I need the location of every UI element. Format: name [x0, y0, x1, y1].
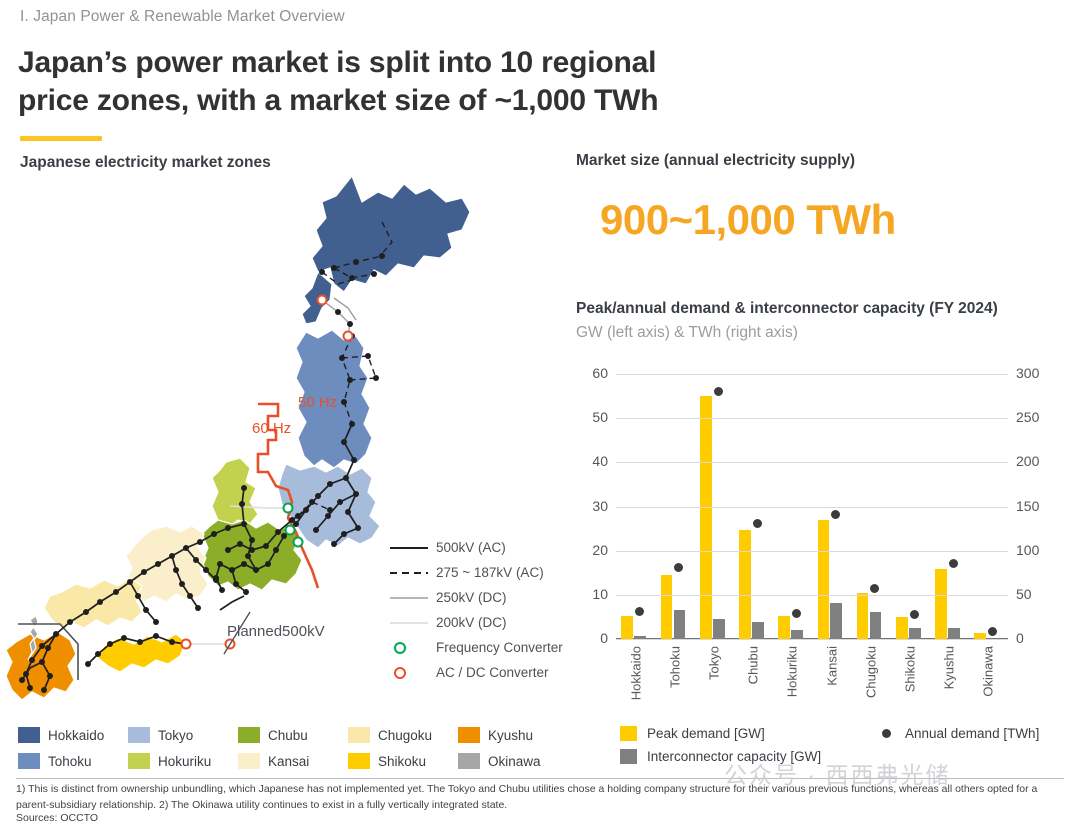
zone-legend-label: Tokyo	[158, 728, 193, 743]
x-axis-label: Kyushu	[930, 644, 969, 724]
bar-interconnector-capacity[interactable]	[713, 619, 725, 639]
zone-legend-label: Tohoku	[48, 754, 92, 769]
legend-label-frequency-converter: Frequency Converter	[436, 640, 563, 655]
chart-legend-label: Interconnector capacity [GW]	[647, 749, 821, 764]
zone-legend-label: Kansai	[268, 754, 309, 769]
zone-legend-item-hokkaido: Hokkaido	[18, 722, 128, 748]
dot-annual-demand[interactable]	[714, 387, 723, 396]
x-axis-label: Shikoku	[890, 644, 929, 724]
bar-peak-demand[interactable]	[621, 616, 633, 639]
color-swatch	[458, 753, 480, 769]
zone-legend-label: Hokuriku	[158, 754, 211, 769]
color-swatch	[348, 727, 370, 743]
bar-interconnector-capacity[interactable]	[909, 628, 921, 639]
y-tick-left: 30	[574, 498, 608, 514]
color-swatch	[238, 727, 260, 743]
black-dot-icon	[878, 729, 895, 738]
grey-line-icon	[390, 593, 436, 603]
dot-annual-demand[interactable]	[870, 584, 879, 593]
bar-interconnector-capacity[interactable]	[674, 610, 686, 639]
planned-500kv-callout: Planned500kV	[227, 623, 325, 640]
dot-annual-demand[interactable]	[674, 563, 683, 572]
color-swatch	[238, 753, 260, 769]
gridline	[616, 374, 1008, 375]
bar-peak-demand[interactable]	[739, 530, 751, 639]
legend-row-275kv-ac: 275 ~ 187kV (AC)	[390, 560, 563, 585]
x-axis-label: Chugoku	[851, 644, 890, 724]
light-grey-line-icon	[390, 618, 436, 628]
gridline	[616, 551, 1008, 552]
zone-legend-item-chubu: Chubu	[238, 722, 348, 748]
zone-legend-item-kansai: Kansai	[238, 748, 348, 774]
zone-legend-label: Kyushu	[488, 728, 533, 743]
x-axis-label-text: Hokkaido	[628, 646, 643, 700]
bar-peak-demand[interactable]	[896, 617, 908, 639]
section-eyebrow: I. Japan Power & Renewable Market Overvi…	[20, 8, 345, 26]
gridline	[616, 595, 1008, 596]
zone-legend-label: Okinawa	[488, 754, 541, 769]
x-axis-label: Kansai	[812, 644, 851, 724]
bar-peak-demand[interactable]	[700, 396, 712, 639]
color-swatch	[348, 753, 370, 769]
x-axis-label-text: Chubu	[746, 646, 761, 684]
x-axis-label-text: Chugoku	[863, 646, 878, 698]
footer-divider	[16, 778, 1064, 779]
y-tick-left: 40	[574, 453, 608, 469]
y-tick-right: 50	[1016, 586, 1056, 602]
red-circle-icon	[390, 667, 436, 679]
y-tick-right: 300	[1016, 365, 1056, 381]
accent-underline	[20, 136, 102, 141]
zone-hokuriku	[212, 458, 258, 528]
gridline	[616, 639, 1008, 640]
zone-legend-item-hokuriku: Hokuriku	[128, 748, 238, 774]
x-axis-label-text: Tohoku	[667, 646, 682, 688]
solid-line-icon	[390, 543, 436, 553]
market-size-title: Market size (annual electricity supply)	[576, 152, 855, 170]
bar-peak-demand[interactable]	[818, 520, 830, 639]
zone-legend-label: Chugoku	[378, 728, 432, 743]
x-axis-label: Tohoku	[655, 644, 694, 724]
grey-square-icon	[620, 749, 637, 764]
gridline	[616, 418, 1008, 419]
dashed-line-icon	[390, 568, 436, 578]
x-axis-label: Tokyo	[694, 644, 733, 724]
footnote-text: 1) This is distinct from ownership unbun…	[16, 782, 1062, 814]
legend-row-frequency-converter: Frequency Converter	[390, 635, 563, 660]
zone-legend-item-tohoku: Tohoku	[18, 748, 128, 774]
legend-label-200kv-dc: 200kV (DC)	[436, 615, 507, 630]
chart-subtitle: GW (left axis) & TWh (right axis)	[576, 324, 798, 342]
zone-chugoku	[44, 578, 142, 628]
bar-interconnector-capacity[interactable]	[791, 630, 803, 639]
bar-peak-demand[interactable]	[661, 575, 673, 639]
x-axis-label-text: Okinawa	[981, 646, 996, 697]
chart-legend-label: Annual demand [TWh]	[905, 726, 1039, 741]
color-swatch	[458, 727, 480, 743]
gridline	[616, 462, 1008, 463]
color-swatch	[18, 753, 40, 769]
dot-annual-demand[interactable]	[753, 519, 762, 528]
bar-peak-demand[interactable]	[778, 616, 790, 639]
slide-root: I. Japan Power & Renewable Market Overvi…	[0, 0, 1080, 823]
dot-annual-demand[interactable]	[831, 510, 840, 519]
zone-legend-label: Shikoku	[378, 754, 426, 769]
legend-label-500kv-ac: 500kV (AC)	[436, 540, 506, 555]
bar-peak-demand[interactable]	[935, 569, 947, 639]
y-tick-left: 50	[574, 409, 608, 425]
map-line-legend: 500kV (AC) 275 ~ 187kV (AC) 250kV (DC) 2…	[390, 535, 563, 685]
legend-row-acdc-converter: AC / DC Converter	[390, 660, 563, 685]
green-circle-icon	[390, 642, 436, 654]
dc-lines	[322, 298, 356, 336]
zone-hokkaido	[312, 176, 470, 292]
demand-chart: 0102030405060 050100150200250300 Hokkaid…	[576, 362, 1076, 722]
page-title: Japan’s power market is split into 10 re…	[18, 44, 718, 121]
y-tick-left: 0	[574, 630, 608, 646]
legend-label-acdc-converter: AC / DC Converter	[436, 665, 549, 680]
sources-text: Sources: OCCTO	[16, 812, 98, 823]
chart-legend-item-interconnector: Interconnector capacity [GW]	[620, 745, 1080, 768]
y-tick-right: 100	[1016, 542, 1056, 558]
dot-annual-demand[interactable]	[910, 610, 919, 619]
zone-legend-item-kyushu: Kyushu	[458, 722, 568, 748]
legend-row-500kv-ac: 500kV (AC)	[390, 535, 563, 560]
x-axis-labels: HokkaidoTohokuTokyoChubuHokurikuKansaiCh…	[616, 644, 1008, 724]
chart-legend-item-annual-demand: Annual demand [TWh]	[878, 722, 1039, 745]
frequency-label-60hz: 60 Hz	[252, 420, 291, 437]
color-swatch	[18, 727, 40, 743]
bar-interconnector-capacity[interactable]	[870, 612, 882, 639]
x-axis-label: Hokkaido	[616, 644, 655, 724]
zone-kyushu	[6, 632, 76, 700]
zone-legend-item-okinawa: Okinawa	[458, 748, 568, 774]
bar-interconnector-capacity[interactable]	[830, 603, 842, 639]
market-size-value: 900~1,000 TWh	[600, 196, 896, 244]
legend-row-200kv-dc: 200kV (DC)	[390, 610, 563, 635]
zone-legend-item-chugoku: Chugoku	[348, 722, 458, 748]
x-axis-label-text: Kyushu	[942, 646, 957, 689]
color-swatch	[128, 727, 150, 743]
x-axis-label: Okinawa	[969, 644, 1008, 724]
color-swatch	[128, 753, 150, 769]
x-axis-label: Chubu	[734, 644, 773, 724]
x-axis-label-text: Kansai	[824, 646, 839, 686]
x-axis-label-text: Hokuriku	[785, 646, 800, 697]
zone-color-legend: Hokkaido Tokyo Chubu Chugoku Kyushu Toho…	[18, 722, 568, 774]
legend-label-250kv-dc: 250kV (DC)	[436, 590, 507, 605]
y-tick-right: 0	[1016, 630, 1056, 646]
y-tick-left: 60	[574, 365, 608, 381]
zone-legend-label: Chubu	[268, 728, 308, 743]
zone-legend-item-shikoku: Shikoku	[348, 748, 458, 774]
zone-legend-label: Hokkaido	[48, 728, 104, 743]
chart-title: Peak/annual demand & interconnector capa…	[576, 300, 998, 318]
dot-annual-demand[interactable]	[949, 559, 958, 568]
map-section-title: Japanese electricity market zones	[20, 154, 271, 172]
gridline	[616, 507, 1008, 508]
y-tick-left: 20	[574, 542, 608, 558]
dot-annual-demand[interactable]	[792, 609, 801, 618]
legend-label-275kv-ac: 275 ~ 187kV (AC)	[436, 565, 544, 580]
bar-peak-demand[interactable]	[857, 593, 869, 639]
chart-legend: Peak demand [GW] Interconnector capacity…	[620, 722, 1080, 768]
legend-row-250kv-dc: 250kV (DC)	[390, 585, 563, 610]
x-axis-label-text: Shikoku	[903, 646, 918, 692]
x-axis-label: Hokuriku	[773, 644, 812, 724]
bar-interconnector-capacity[interactable]	[752, 622, 764, 639]
y-tick-left: 10	[574, 586, 608, 602]
y-tick-right: 150	[1016, 498, 1056, 514]
chart-plot-area	[616, 374, 1008, 639]
bar-interconnector-capacity[interactable]	[948, 628, 960, 639]
dot-annual-demand[interactable]	[988, 627, 997, 636]
chart-legend-label: Peak demand [GW]	[647, 726, 765, 741]
yellow-square-icon	[620, 726, 637, 741]
x-axis-label-text: Tokyo	[707, 646, 722, 680]
y-tick-right: 250	[1016, 409, 1056, 425]
dot-annual-demand[interactable]	[635, 607, 644, 616]
zone-legend-item-tokyo: Tokyo	[128, 722, 238, 748]
y-tick-right: 200	[1016, 453, 1056, 469]
frequency-label-50hz: 50 Hz	[298, 394, 337, 411]
